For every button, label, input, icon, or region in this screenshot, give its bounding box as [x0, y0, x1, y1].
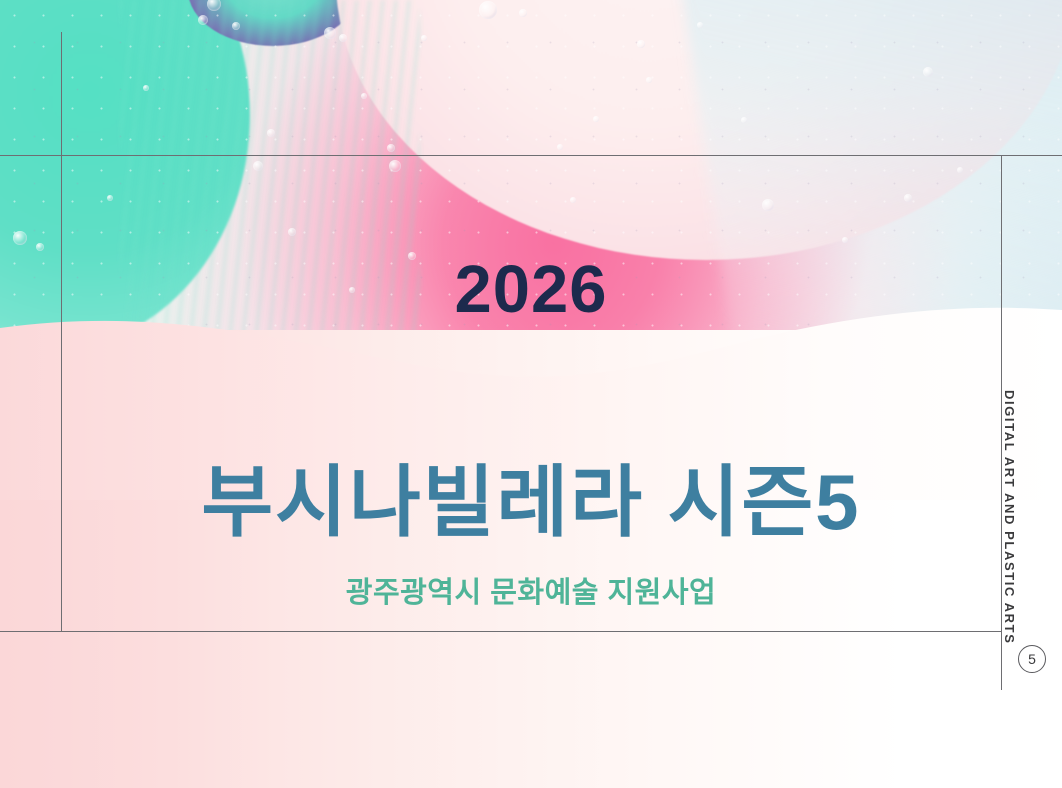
bubble-dot [387, 144, 395, 152]
bubble-dot [198, 15, 208, 25]
bubble-dot [324, 27, 336, 39]
grid-line-horizontal-bottom [0, 631, 1001, 632]
bubble-dot [842, 237, 848, 243]
bubble-dot [361, 93, 367, 99]
bubble-dot [637, 40, 645, 48]
bubble-dot [107, 195, 113, 201]
bubble-dot [479, 1, 497, 19]
bubble-dot [904, 194, 912, 202]
bubble-dot [923, 67, 933, 77]
page-title: 부시나빌레라 시즌5 [0, 440, 1062, 552]
year-label: 2026 [0, 251, 1062, 328]
page-number-badge: 5 [1018, 645, 1046, 673]
bubble-dot [339, 34, 347, 42]
bubble-dot [557, 144, 563, 150]
bubble-dot [267, 129, 275, 137]
side-label: DIGITAL ART AND PLASTIC ARTS [1002, 390, 1017, 644]
bubble-dot [232, 22, 240, 30]
bubble-dot [143, 85, 149, 91]
bubble-dot [13, 231, 27, 245]
bubble-dot [593, 116, 599, 122]
bubble-dot [741, 117, 747, 123]
subtitle-label: 광주광역시 문화예술 지원사업 [0, 569, 1062, 611]
bubble-dot [36, 243, 44, 251]
bubble-dot [646, 77, 652, 83]
bubble-dot [519, 9, 527, 17]
bubble-dot [421, 35, 427, 41]
grid-line-horizontal-top [0, 155, 1062, 156]
bubble-dot [697, 22, 703, 28]
bubble-dot [570, 197, 576, 203]
bubble-dot [762, 199, 774, 211]
bubble-dot [957, 167, 963, 173]
slide-canvas: 2026 부시나빌레라 시즌5 광주광역시 문화예술 지원사업 DIGITAL … [0, 0, 1062, 788]
bubble-dot [253, 161, 263, 171]
bubble-dot [288, 228, 296, 236]
bubble-dot [389, 160, 401, 172]
